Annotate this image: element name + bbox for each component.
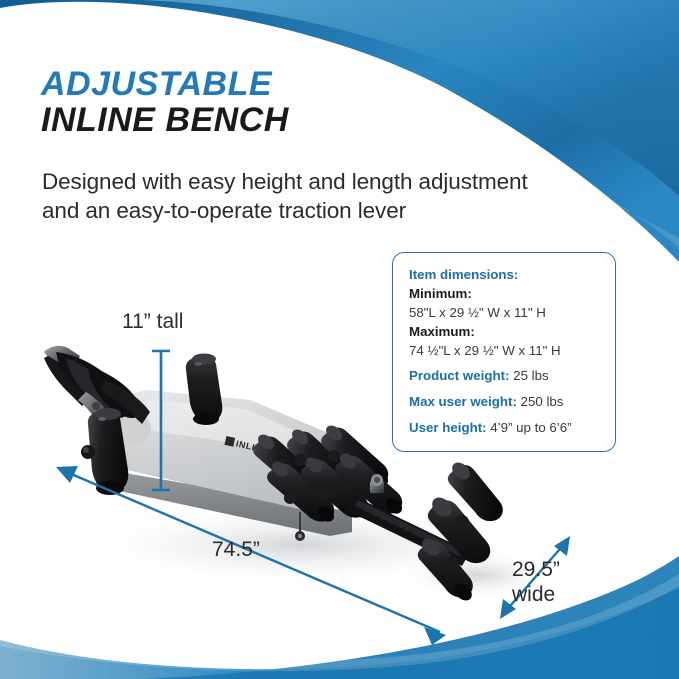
- spec-spacer-2: [409, 386, 601, 393]
- spec-minimum-label-row: Minimum:: [409, 285, 601, 304]
- title-line-2: INLINE BENCH: [41, 102, 461, 138]
- subtitle-line-2: and an easy-to-operate traction lever: [42, 197, 622, 226]
- frame-bar: [295, 474, 470, 566]
- spec-user-height-row: User height: 4’9” up to 6’6”: [409, 419, 601, 438]
- spec-max-user-weight-row: Max user weight: 250 lbs: [409, 393, 601, 412]
- spec-dimensions-heading: Item dimensions:: [409, 266, 601, 285]
- spec-maximum-label-row: Maximum:: [409, 323, 601, 342]
- roller-pad-stack: [253, 423, 405, 525]
- pad-logo: INLINE: [224, 436, 269, 456]
- spec-product-weight-label: Product weight:: [409, 368, 509, 383]
- product-shadow: [70, 503, 530, 587]
- infographic-canvas: INLINE: [0, 0, 679, 679]
- swoosh-bottom-secondary: [140, 556, 679, 679]
- swoosh-bottom-streak: [0, 574, 679, 671]
- swoosh-bottom-primary: [0, 588, 679, 679]
- svg-text:INLINE: INLINE: [235, 438, 270, 455]
- foot-roller-assembly: [418, 459, 503, 604]
- item-specs-box: Item dimensions: Minimum: 58"L x 29 ½" W…: [392, 252, 616, 452]
- spec-product-weight-row: Product weight: 25 lbs: [409, 367, 601, 386]
- subtitle-line-1: Designed with easy height and length adj…: [42, 168, 622, 197]
- handle-roller-left: [81, 408, 128, 495]
- height-callout-label: 11” tall: [122, 310, 183, 334]
- bench-pad: INLINE: [95, 390, 358, 536]
- page-title: ADJUSTABLE INLINE BENCH: [41, 66, 461, 138]
- spec-minimum-value: 58"L x 29 ½" W x 11" H: [409, 305, 546, 320]
- traction-lever-assembly: [44, 346, 150, 426]
- spec-user-height-label: User height:: [409, 420, 487, 435]
- spec-product-weight-value: 25 lbs: [513, 368, 548, 383]
- height-measure-line: [152, 351, 170, 490]
- spec-maximum-value: 74 ½"L x 29 ½" W x 11" H: [409, 343, 561, 358]
- spec-minimum-label: Minimum:: [409, 286, 472, 301]
- spec-spacer-3: [409, 412, 601, 419]
- spec-max-user-weight-label: Max user weight:: [409, 394, 517, 409]
- width-callout-line-2: wide: [512, 583, 560, 608]
- width-callout-label: 29.5” wide: [512, 558, 560, 608]
- width-callout-line-1: 29.5”: [512, 558, 560, 583]
- adjustment-knob: [370, 474, 384, 493]
- length-callout-label: 74.5”: [212, 538, 260, 562]
- spec-maximum-label: Maximum:: [409, 324, 475, 339]
- spec-dimensions-heading-label: Item dimensions:: [409, 267, 518, 282]
- page-subtitle: Designed with easy height and length adj…: [42, 168, 622, 226]
- spec-spacer-1: [409, 360, 601, 367]
- spec-maximum-value-row: 74 ½"L x 29 ½" W x 11" H: [409, 342, 601, 361]
- spec-user-height-value: 4’9” up to 6’6”: [490, 420, 571, 435]
- spec-max-user-weight-value: 250 lbs: [521, 394, 564, 409]
- title-line-1: ADJUSTABLE: [41, 66, 461, 102]
- pull-pin: [295, 512, 305, 541]
- spec-minimum-value-row: 58"L x 29 ½" W x 11" H: [409, 304, 601, 323]
- handle-roller-right: [186, 354, 223, 426]
